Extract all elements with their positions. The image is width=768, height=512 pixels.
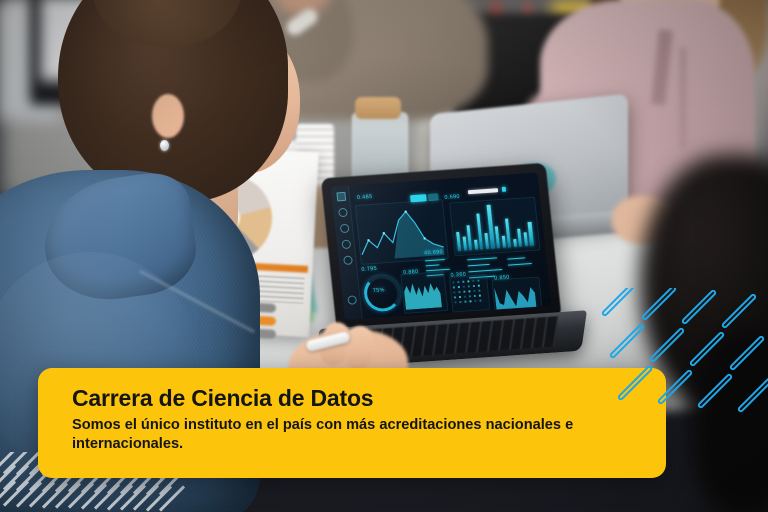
promo-image: 37%	[0, 0, 768, 512]
matrix-cell	[477, 280, 479, 282]
matrix-cell	[468, 285, 470, 287]
data-row-line-2	[425, 264, 439, 266]
bar-4	[474, 240, 478, 250]
metric-value-1: 0.485	[357, 194, 373, 201]
bar-5	[477, 214, 484, 250]
header-avatar-icon[interactable]	[502, 187, 507, 192]
cork-lid	[355, 97, 401, 119]
matrix-cell	[453, 286, 455, 288]
matrix-cell	[454, 301, 456, 303]
toggle-button-left[interactable]	[410, 194, 427, 202]
matrix-cell	[467, 280, 469, 282]
matrix-cell	[458, 286, 460, 288]
matrix-cell	[459, 296, 461, 298]
header-search-bar[interactable]	[468, 188, 498, 194]
matrix-cell	[463, 291, 465, 293]
bar-12	[517, 228, 522, 247]
help-icon[interactable]	[347, 295, 357, 305]
data-row-line-6	[468, 264, 490, 267]
matrix-cell	[472, 280, 474, 282]
matrix-cell	[474, 295, 476, 297]
bar-11	[513, 239, 517, 247]
menu-icon[interactable]	[336, 192, 346, 202]
matrix-cell	[478, 290, 480, 292]
matrix-cell	[474, 300, 476, 302]
analytics-dashboard[interactable]: 0.485 0.690	[331, 172, 552, 320]
matrix-cell	[458, 291, 460, 293]
area-chart-1	[403, 279, 444, 309]
matrix-cell	[469, 300, 471, 302]
bar-9	[501, 236, 505, 248]
matrix-cell	[463, 286, 465, 288]
banner-title: Carrera de Ciencia de Datos	[72, 385, 373, 412]
layers-icon[interactable]	[340, 224, 350, 234]
metric-value-5: 0.880	[403, 269, 419, 276]
matrix-cell	[479, 295, 481, 297]
bar-2	[462, 237, 467, 251]
metric-value-4: 0.795	[361, 266, 377, 273]
data-row-line-9	[507, 257, 525, 260]
matrix-cell	[469, 295, 471, 297]
data-row-line-1	[425, 259, 445, 262]
users-icon[interactable]	[341, 240, 351, 250]
matrix-cell	[462, 281, 464, 283]
chart-icon[interactable]	[338, 208, 348, 218]
settings-icon[interactable]	[343, 255, 353, 265]
promo-banner: Carrera de Ciencia de Datos Somos el úni…	[38, 368, 666, 478]
matrix-cell	[478, 285, 480, 287]
earring-icon	[160, 140, 169, 151]
bar-chart	[452, 200, 535, 251]
matrix-cell	[473, 285, 475, 287]
metric-value-7: 0.850	[494, 275, 510, 282]
metric-value-8: 75%	[373, 287, 386, 294]
bar-1	[456, 232, 461, 251]
bar-3	[467, 225, 473, 250]
matrix-cell	[459, 301, 461, 303]
data-row-line-10	[508, 263, 532, 266]
bar-13	[523, 232, 528, 246]
matrix-cell	[457, 281, 459, 283]
toggle-button-right[interactable]	[428, 193, 439, 201]
data-row-line-5	[467, 257, 497, 260]
metric-value-3: 0.360	[450, 272, 466, 279]
data-row-line-7	[468, 269, 502, 273]
matrix-cell	[452, 281, 454, 283]
foreground-woman-ear	[152, 94, 184, 138]
matrix-cell	[464, 301, 466, 303]
matrix-cell	[479, 300, 481, 302]
matrix-cell	[468, 290, 470, 292]
laptop-screen[interactable]: 0.485 0.690	[331, 172, 552, 320]
matrix-cell	[454, 296, 456, 298]
person-pink-placket	[680, 48, 686, 148]
bar-14	[528, 222, 534, 246]
data-matrix	[452, 279, 485, 307]
metric-value-2: 0.690	[444, 194, 460, 201]
matrix-cell	[453, 291, 455, 293]
banner-subtitle: Somos el único instituto en el país con …	[72, 416, 612, 455]
matrix-cell	[473, 290, 475, 292]
bar-10	[505, 219, 511, 248]
matrix-cell	[464, 296, 466, 298]
bar-8	[495, 226, 500, 248]
bar-6	[484, 233, 489, 249]
